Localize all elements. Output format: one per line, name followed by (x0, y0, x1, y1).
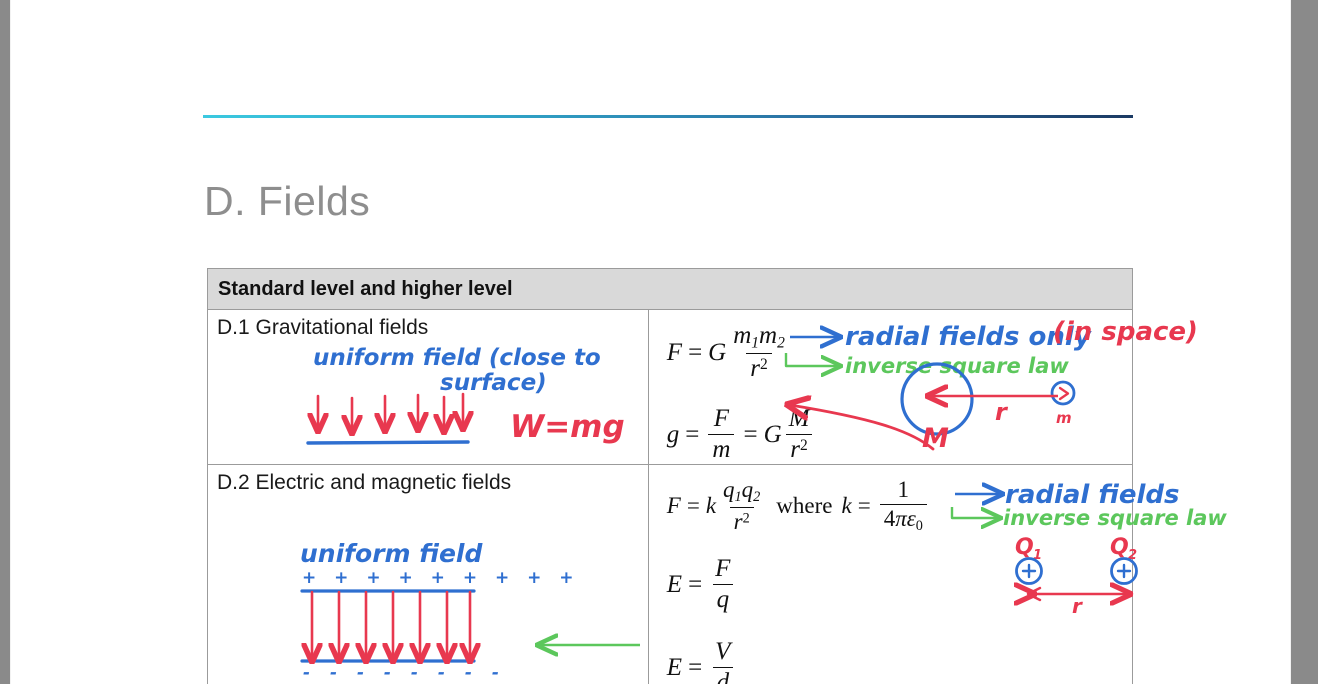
equals-sign: = (687, 493, 700, 519)
symbol-m: m (708, 434, 734, 464)
formula-electric-field-strength: E = F q (667, 555, 1132, 614)
exponent-2: 2 (800, 437, 808, 454)
row-d2-topic-cell: D.2 Electric and magnetic fields (208, 465, 649, 684)
symbol-k: k (841, 493, 851, 519)
symbol-pi: π (895, 506, 907, 531)
fraction-1-over-4pieps0: 1 4πε0 (880, 477, 927, 535)
symbol-q: q (713, 584, 734, 614)
symbol-F: F (711, 555, 734, 584)
equals-sign: = (685, 421, 699, 449)
symbol-epsilon: ε (907, 506, 916, 531)
table-row: D.1 Gravitational fields F = G m1m2 r2 g (208, 310, 1133, 465)
exponent-2: 2 (743, 511, 750, 527)
formula-gravitational-field-strength: g = F m = G M r2 (667, 405, 1132, 464)
fraction-F-over-m: F m (708, 405, 734, 464)
numerator-one: 1 (894, 477, 914, 504)
document-page: D. Fields Standard level and higher leve… (11, 0, 1290, 684)
symbol-r: r (734, 509, 743, 534)
equals-sign: = (688, 339, 702, 367)
fraction-M-over-r2: M r2 (785, 405, 814, 464)
table-row: D.2 Electric and magnetic fields F = k q… (208, 465, 1133, 684)
fraction-mm-over-r2: m1m2 r2 (729, 322, 789, 383)
fraction-qq-over-r2: q1q2 r2 (719, 477, 764, 535)
constant-four: 4 (884, 506, 896, 531)
symbol-g: g (667, 421, 680, 449)
symbol-m1: m (733, 322, 751, 349)
symbol-q1: q (723, 477, 735, 502)
table-header-row: Standard level and higher level (208, 269, 1133, 310)
equals-sign: = (688, 654, 702, 682)
symbol-F: F (667, 493, 681, 519)
fraction-F-over-q: F q (711, 555, 734, 614)
formula-newton-gravitation: F = G m1m2 r2 (667, 322, 1132, 383)
symbol-F: F (710, 405, 733, 434)
page-title: D. Fields (204, 178, 370, 225)
subscript-1: 1 (735, 489, 742, 505)
symbol-M: M (785, 405, 814, 434)
subscript-1: 1 (751, 334, 759, 351)
symbol-F: F (667, 339, 682, 367)
symbol-d: d (713, 667, 734, 684)
equals-sign: = (743, 421, 757, 449)
subscript-2: 2 (753, 489, 760, 505)
subscript-0: 0 (916, 518, 923, 534)
formula-field-from-potential: E = V d (667, 638, 1132, 684)
symbol-G: G (708, 339, 726, 367)
screenshot-viewport: D. Fields Standard level and higher leve… (0, 0, 1318, 684)
row-d1-formula-cell: F = G m1m2 r2 g = F m (648, 310, 1132, 465)
formula-coulomb-law: F = k q1q2 r2 where k = 1 4πε0 (667, 477, 1132, 535)
symbol-E: E (667, 654, 682, 682)
symbol-q2: q (742, 477, 754, 502)
symbol-E: E (667, 571, 682, 599)
symbol-m2: m (759, 322, 777, 349)
equals-sign: = (688, 571, 702, 599)
exponent-2: 2 (760, 356, 768, 373)
symbol-r: r (750, 355, 760, 382)
table-header-cell: Standard level and higher level (208, 269, 1133, 310)
symbol-k: k (706, 493, 716, 519)
subscript-2: 2 (777, 334, 785, 351)
fraction-V-over-d: V d (711, 638, 734, 684)
equals-sign: = (858, 493, 871, 519)
header-rule (203, 115, 1133, 118)
symbol-V: V (711, 638, 734, 667)
where-text: where (776, 493, 832, 519)
row-d1-topic-cell: D.1 Gravitational fields (208, 310, 649, 465)
topic-label-d2: D.2 Electric and magnetic fields (208, 465, 648, 495)
symbol-G: G (764, 421, 782, 449)
row-d2-formula-cell: F = k q1q2 r2 where k = 1 4πε0 (648, 465, 1132, 684)
syllabus-table: Standard level and higher level D.1 Grav… (207, 268, 1133, 684)
symbol-r: r (790, 436, 800, 463)
topic-label-d1: D.1 Gravitational fields (208, 310, 648, 340)
